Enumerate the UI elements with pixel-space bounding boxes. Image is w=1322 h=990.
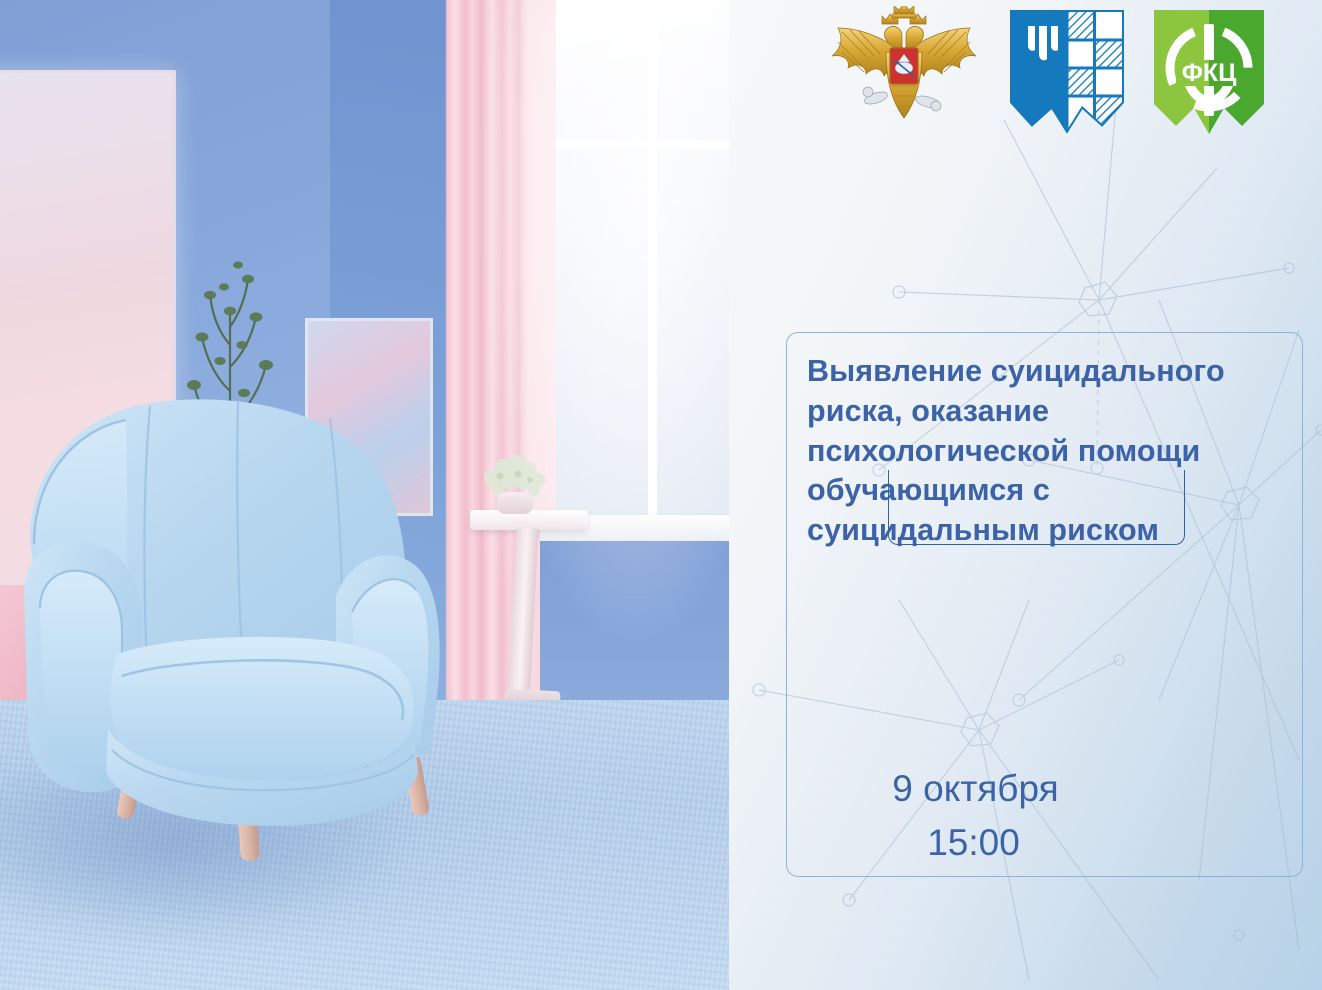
event-date: 9 октября <box>729 762 1322 816</box>
event-datetime: 9 октября 15:00 <box>729 762 1322 869</box>
green-shield-fkc-icon: ФКЦ <box>1150 6 1268 147</box>
date-box-outline <box>888 470 1185 545</box>
event-time: 15:00 <box>729 816 1322 870</box>
svg-text:ФКЦ: ФКЦ <box>1182 59 1238 87</box>
blue-shield-checkered-icon <box>1006 6 1128 143</box>
logo-row: ФКЦ <box>824 6 1268 147</box>
webinar-announcement-poster: ФКЦ Выявление суицидального риска, оказа… <box>0 0 1322 990</box>
room-photo <box>0 0 729 990</box>
blue-armchair <box>0 358 520 878</box>
russian-double-headed-eagle-emblem-icon <box>824 6 984 141</box>
info-panel: ФКЦ Выявление суицидального риска, оказа… <box>729 0 1322 990</box>
window <box>556 0 729 530</box>
